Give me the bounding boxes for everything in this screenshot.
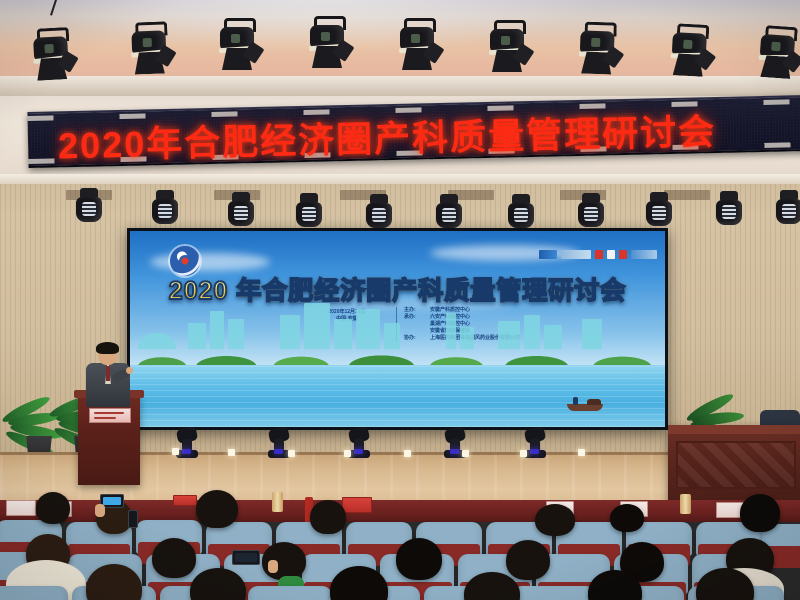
audience-person-head [506,540,550,580]
smartphone-icon [232,550,260,565]
audience-area [0,498,800,600]
audience-person-head [152,538,196,578]
conference-photo-scene: 2020年合肥经济圈产科质量管理研讨会 2020 年合肥经济圈产科质量管理研讨会… [0,0,800,600]
wall-moving-head-light-icon [436,194,462,228]
auditorium-seat[interactable] [248,586,332,600]
smartphone-icon [128,510,138,528]
tree-line [130,337,665,367]
auditorium-seat[interactable] [512,586,596,600]
floor-moving-head-light-icon [268,428,290,458]
wall-top-ledge [0,174,800,184]
wall-moving-head-light-icon [776,190,800,224]
audience-person-head [396,538,442,580]
audience-hand [268,560,278,573]
wall-moving-head-light-icon [646,192,672,226]
floor-moving-head-light-icon [176,428,198,458]
ceiling-spotlight-icon [306,16,348,70]
audience-person-head [610,504,644,532]
sponsor-logos [539,250,657,259]
audience-person-head [36,492,70,524]
boat-icon [567,404,603,411]
ceiling-rail [0,76,800,98]
wall-moving-head-light-icon [152,190,178,224]
wall-moving-head-light-icon [296,193,322,227]
ceiling-spotlight-icon [127,21,171,76]
ceiling-spotlight-icon [29,27,74,83]
audience-hand [95,504,105,517]
floor-moving-head-light-icon [524,428,546,458]
ceiling-spotlight-icon [216,18,258,72]
wall-moving-head-light-icon [366,194,392,228]
stage-led-screen: 2020 年合肥经济圈产科质量管理研讨会 2020年12月19日 中国·安徽 主… [127,228,668,430]
audience-person-head [740,494,780,532]
wall-moving-head-light-icon [228,192,254,226]
stage-side-table [668,425,800,503]
floor-moving-head-light-icon [348,428,370,458]
auditorium-seat[interactable] [0,586,68,600]
ceiling-spotlight-icon [575,21,619,76]
audience-person-head [196,490,238,528]
wall-moving-head-light-icon [76,188,102,222]
ceiling-spotlight-icon [396,18,438,72]
ceiling-spotlight-icon [486,20,528,74]
lake-water [130,365,665,427]
podium [78,395,140,485]
ceiling-spotlight-icon [667,23,712,79]
ceiling-spotlight-icon [754,25,800,82]
speaker-presenter [86,344,130,404]
wall-moving-head-light-icon [578,193,604,227]
wall-moving-head-light-icon [508,194,534,228]
wall-moving-head-light-icon [716,191,742,225]
podium-name-sign [89,408,131,423]
audience-person-head [535,504,575,536]
audience-person-head [310,500,346,534]
